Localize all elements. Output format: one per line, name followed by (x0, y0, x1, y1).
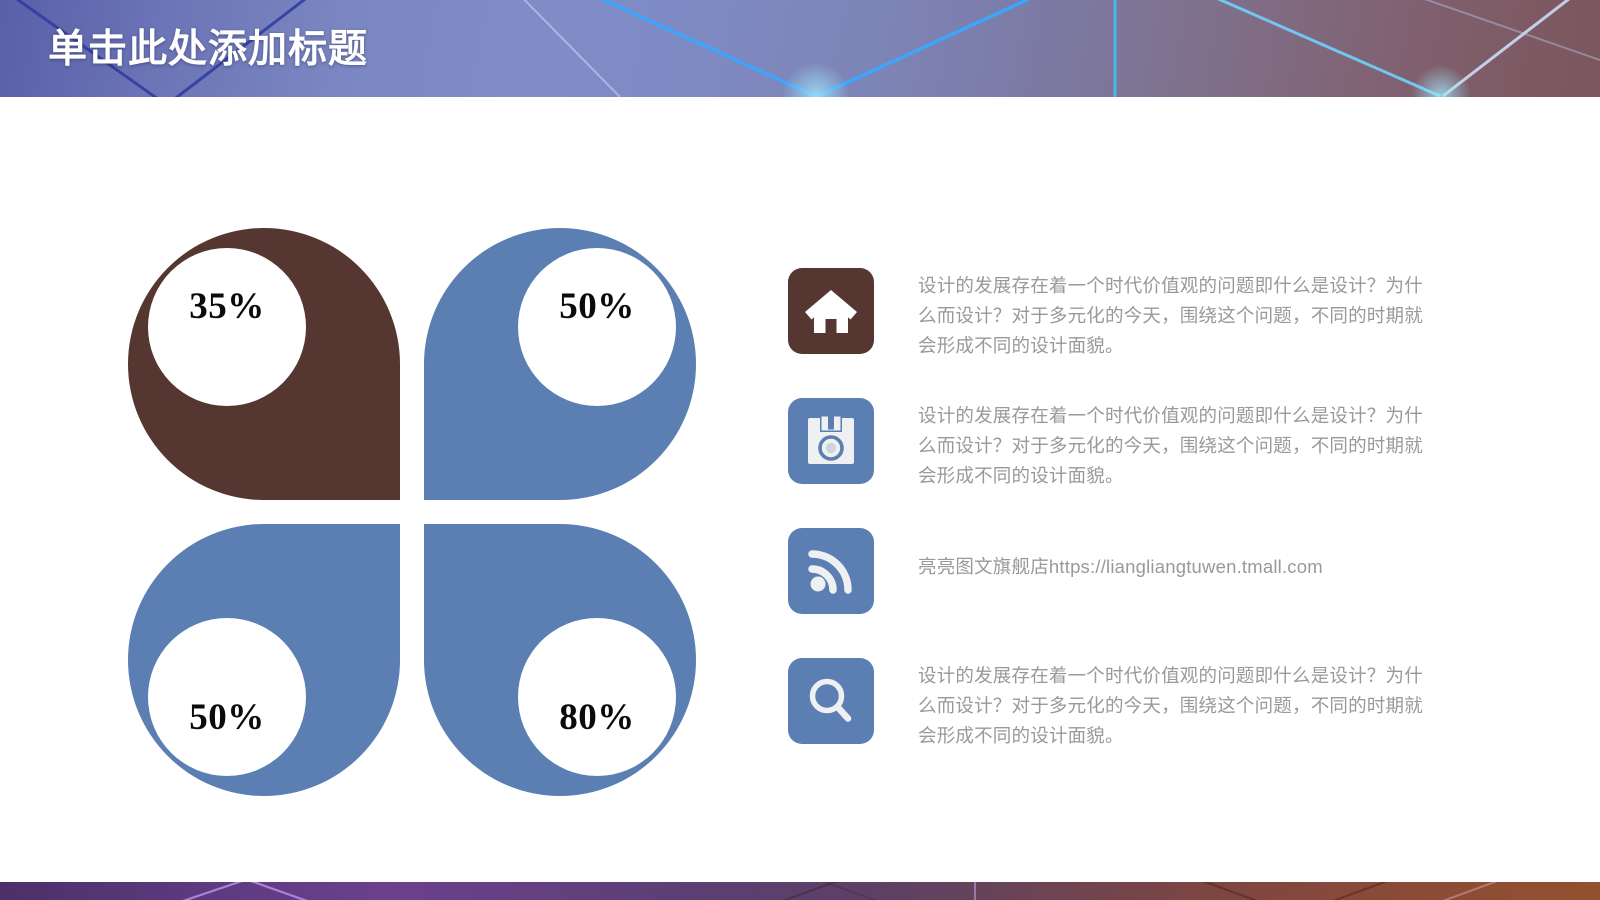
petal-top-left-value: 35% (148, 285, 306, 328)
save-floppy-icon-tile[interactable] (788, 398, 874, 484)
search-icon (805, 675, 857, 727)
home-icon (803, 285, 859, 337)
home-icon-tile[interactable] (788, 268, 874, 354)
search-icon-tile[interactable] (788, 658, 874, 744)
petal-bottom-left-value: 50% (148, 696, 306, 739)
list-item-text: 设计的发展存在着一个时代价值观的问题即什么是设计？为什么而设计？对于多元化的今天… (918, 401, 1428, 491)
petal-percentage-chart: 35% 50% 50% 80% (128, 228, 703, 803)
list-item[interactable]: 设计的发展存在着一个时代价值观的问题即什么是设计？为什么而设计？对于多元化的今天… (788, 658, 1488, 750)
petal-top-right[interactable]: 50% (424, 228, 696, 500)
list-item-text: 设计的发展存在着一个时代价值观的问题即什么是设计？为什么而设计？对于多元化的今天… (918, 661, 1428, 751)
petal-top-left[interactable]: 35% (128, 228, 400, 500)
list-item[interactable]: 亮亮图文旗舰店https://liangliangtuwen.tmall.com (788, 528, 1488, 620)
list-item[interactable]: 设计的发展存在着一个时代价值观的问题即什么是设计？为什么而设计？对于多元化的今天… (788, 398, 1488, 490)
save-floppy-icon (805, 415, 857, 467)
footer-decorative-lines (0, 882, 1600, 900)
rss-icon (805, 545, 857, 597)
page-title: 单击此处添加标题 (48, 18, 368, 74)
list-item-text: 设计的发展存在着一个时代价值观的问题即什么是设计？为什么而设计？对于多元化的今天… (918, 271, 1428, 361)
petal-bottom-left[interactable]: 50% (128, 524, 400, 796)
slide-header-band: 单击此处添加标题 (0, 0, 1600, 97)
list-item[interactable]: 设计的发展存在着一个时代价值观的问题即什么是设计？为什么而设计？对于多元化的今天… (788, 268, 1488, 360)
petal-top-right-value: 50% (518, 285, 676, 328)
list-item-text: 亮亮图文旗舰店https://liangliangtuwen.tmall.com (918, 552, 1478, 582)
rss-icon-tile[interactable] (788, 528, 874, 614)
petal-bottom-right[interactable]: 80% (424, 524, 696, 796)
petal-bottom-right-value: 80% (518, 696, 676, 739)
slide-footer-band (0, 882, 1600, 900)
